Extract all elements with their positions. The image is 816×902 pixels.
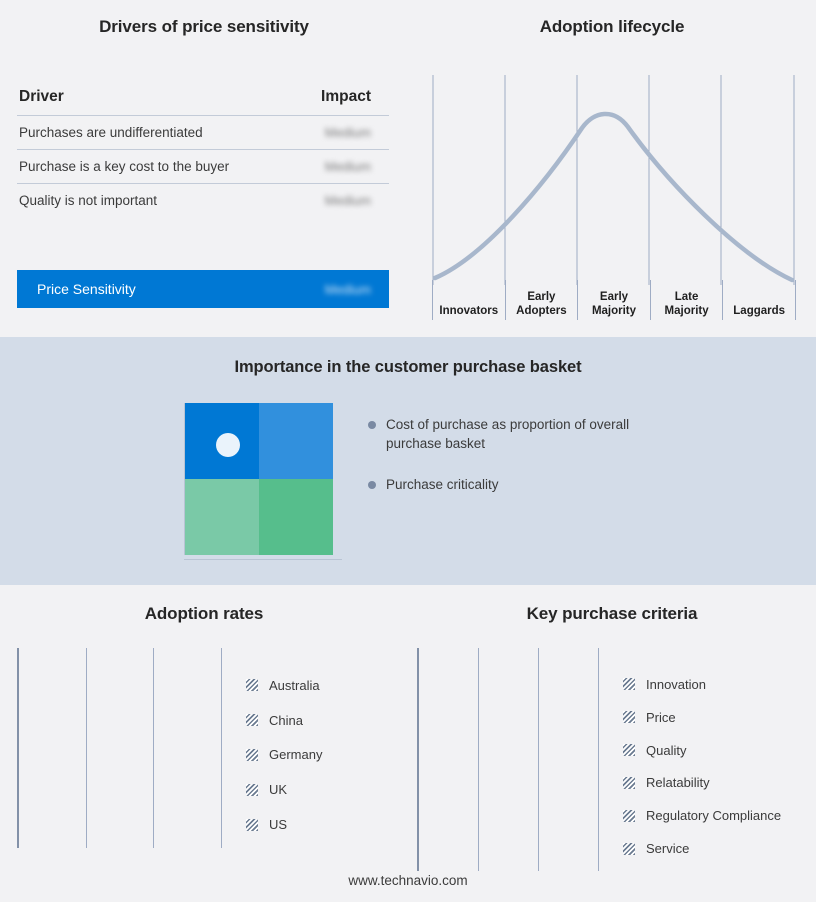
adoption-rates-panel: Adoption rates	[0, 585, 408, 902]
legend-label: Innovation	[646, 677, 706, 692]
hatched-swatch-icon	[246, 749, 258, 761]
legend-label: US	[269, 817, 287, 832]
drivers-table: Driver Impact Purchases are undifferenti…	[17, 88, 389, 217]
basket-panel-title: Importance in the customer purchase bask…	[0, 358, 816, 377]
legend-label: Germany	[269, 747, 322, 762]
hatched-swatch-icon	[623, 678, 635, 690]
hatched-swatch-icon	[623, 810, 635, 822]
matrix-quadrant-bottom-left	[185, 479, 259, 555]
basket-legend-label: Cost of purchase as proportion of overal…	[386, 415, 648, 453]
purchase-basket-matrix-wrap	[184, 403, 334, 565]
driver-name: Purchase is a key cost to the buyer	[17, 150, 264, 184]
table-row: Purchases are undifferentiated Medium	[17, 116, 389, 150]
legend-item: China	[246, 713, 322, 728]
table-header-row: Driver Impact	[17, 88, 389, 116]
hatched-swatch-icon	[246, 784, 258, 796]
legend-item: Service	[623, 841, 781, 856]
legend-item: Regulatory Compliance	[623, 808, 781, 823]
bullet-dot-icon	[368, 421, 376, 429]
table-row: Quality is not important Medium	[17, 184, 389, 218]
adoption-rates-legend: Australia China Germany UK	[246, 648, 322, 848]
lifecycle-segment-early-majority: Early Majority	[577, 280, 650, 320]
key-purchase-criteria-chart: Innovation Price Quality Relatability	[417, 648, 815, 871]
legend-label: Service	[646, 841, 689, 856]
matrix-quadrant-bottom-right	[259, 479, 333, 555]
impact-value-redacted: Medium	[325, 125, 371, 140]
lifecycle-segment-laggards: Laggards	[722, 280, 796, 320]
segment-line2: Majority	[592, 305, 636, 319]
hatched-swatch-icon	[246, 679, 258, 691]
driver-impact: Medium	[264, 116, 389, 150]
hatched-swatch-icon	[246, 714, 258, 726]
adoption-lifecycle-panel: Adoption lifecycle Innovators	[408, 0, 816, 337]
impact-value-redacted: Medium	[325, 159, 371, 174]
basket-legend-item: Purchase criticality	[368, 475, 688, 494]
hatched-swatch-icon	[623, 711, 635, 723]
bars-container	[419, 662, 599, 857]
price-sensitivity-summary-row: Price Sensitivity Medium	[17, 270, 389, 308]
position-dot-icon	[216, 433, 240, 457]
hatched-swatch-icon	[246, 819, 258, 831]
segment-line1: Late	[675, 291, 699, 305]
lifecycle-segment-labels: Innovators Early Adopters Early Majority…	[432, 280, 796, 320]
segment-line2: Laggards	[733, 305, 785, 319]
lifecycle-panel-title: Adoption lifecycle	[408, 17, 816, 37]
bullet-dot-icon	[368, 481, 376, 489]
segment-line2: Innovators	[439, 305, 498, 319]
infographic-page: Drivers of price sensitivity Driver Impa…	[0, 0, 816, 902]
driver-impact: Medium	[264, 150, 389, 184]
hatched-swatch-icon	[623, 843, 635, 855]
hatched-swatch-icon	[623, 744, 635, 756]
segment-dividers	[433, 75, 794, 285]
impact-value-redacted: Medium	[325, 193, 371, 208]
legend-item: Australia	[246, 678, 322, 693]
lifecycle-curve-plot	[432, 75, 796, 285]
legend-label: Regulatory Compliance	[646, 808, 781, 823]
adoption-rates-plot-area	[17, 648, 222, 848]
table-row: Purchase is a key cost to the buyer Medi…	[17, 150, 389, 184]
driver-name: Purchases are undifferentiated	[17, 116, 264, 150]
bell-curve-svg	[432, 75, 796, 285]
legend-item: Germany	[246, 747, 322, 762]
matrix-baseline	[184, 559, 342, 560]
adoption-rates-chart: Australia China Germany UK	[17, 648, 393, 848]
footer-url: www.technavio.com	[0, 873, 816, 888]
key-purchase-criteria-panel: Key purchase criteria	[408, 585, 816, 902]
key-purchase-criteria-title: Key purchase criteria	[408, 604, 816, 624]
criteria-plot-area	[417, 648, 599, 871]
driver-impact: Medium	[264, 184, 389, 218]
legend-label: China	[269, 713, 303, 728]
legend-label: UK	[269, 782, 287, 797]
column-header-driver: Driver	[17, 88, 264, 116]
basket-legend-label: Purchase criticality	[386, 475, 499, 494]
legend-label: Australia	[269, 678, 320, 693]
hatched-swatch-icon	[623, 777, 635, 789]
legend-item: UK	[246, 782, 322, 797]
legend-item: Price	[623, 710, 781, 725]
bars-container	[19, 662, 222, 834]
segment-line2: Majority	[665, 305, 709, 319]
adoption-bell-curve	[435, 114, 792, 280]
purchase-basket-panel: Importance in the customer purchase bask…	[0, 337, 816, 585]
drivers-panel-title: Drivers of price sensitivity	[0, 17, 408, 37]
driver-name: Quality is not important	[17, 184, 264, 218]
legend-item: US	[246, 817, 322, 832]
matrix-quadrant-top-right	[259, 403, 333, 479]
legend-item: Innovation	[623, 677, 781, 692]
legend-label: Relatability	[646, 775, 710, 790]
drivers-table-wrap: Driver Impact Purchases are undifferenti…	[17, 88, 389, 217]
purchase-basket-matrix	[184, 403, 333, 555]
legend-item: Quality	[623, 743, 781, 758]
price-sensitivity-label: Price Sensitivity	[37, 281, 136, 297]
segment-line2: Adopters	[516, 305, 566, 319]
matrix-quadrant-top-left	[185, 403, 259, 479]
legend-label: Price	[646, 710, 676, 725]
price-sensitivity-value-redacted: Medium	[325, 282, 371, 297]
legend-item: Relatability	[623, 775, 781, 790]
column-header-impact: Impact	[264, 88, 389, 116]
lifecycle-segment-late-majority: Late Majority	[650, 280, 723, 320]
basket-legend-item: Cost of purchase as proportion of overal…	[368, 415, 688, 453]
drivers-of-price-sensitivity-panel: Drivers of price sensitivity Driver Impa…	[0, 0, 408, 337]
lifecycle-segment-early-adopters: Early Adopters	[505, 280, 578, 320]
basket-legend: Cost of purchase as proportion of overal…	[368, 415, 688, 516]
adoption-rates-title: Adoption rates	[0, 604, 408, 624]
segment-line1: Early	[600, 291, 628, 305]
segment-line1: Early	[527, 291, 555, 305]
key-purchase-criteria-legend: Innovation Price Quality Relatability	[623, 648, 781, 871]
legend-label: Quality	[646, 743, 686, 758]
lifecycle-segment-innovators: Innovators	[432, 280, 505, 320]
